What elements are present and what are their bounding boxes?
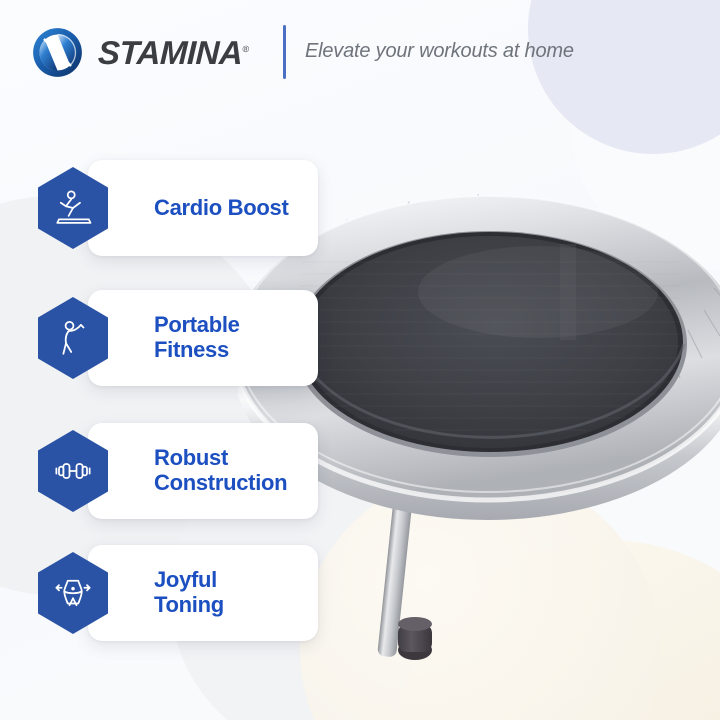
marketing-banner: STAMINA® Elevate your workouts at home C…: [0, 0, 720, 720]
feature-list: Cardio Boost: [0, 0, 330, 720]
feature-badge: [36, 166, 110, 250]
feature-label: Portable Fitness: [154, 313, 240, 362]
feature-label: Joyful Toning: [154, 568, 224, 617]
feature-badge: [36, 296, 110, 380]
feature-card: Cardio Boost: [88, 160, 318, 256]
feature-card: Portable Fitness: [88, 290, 318, 386]
feature-badge: [36, 551, 110, 635]
feature-label: Cardio Boost: [154, 196, 289, 221]
waist-toning-icon: [52, 572, 94, 614]
feature-label: Robust Construction: [154, 446, 287, 495]
feature-badge: [36, 429, 110, 513]
person-stretching-icon: [52, 317, 94, 359]
dumbbell-icon: [52, 450, 94, 492]
feature-card: Joyful Toning: [88, 545, 318, 641]
brand-tagline: Elevate your workouts at home: [305, 40, 574, 63]
treadmill-runner-icon: [52, 187, 94, 229]
feature-card: Robust Construction: [88, 423, 318, 519]
